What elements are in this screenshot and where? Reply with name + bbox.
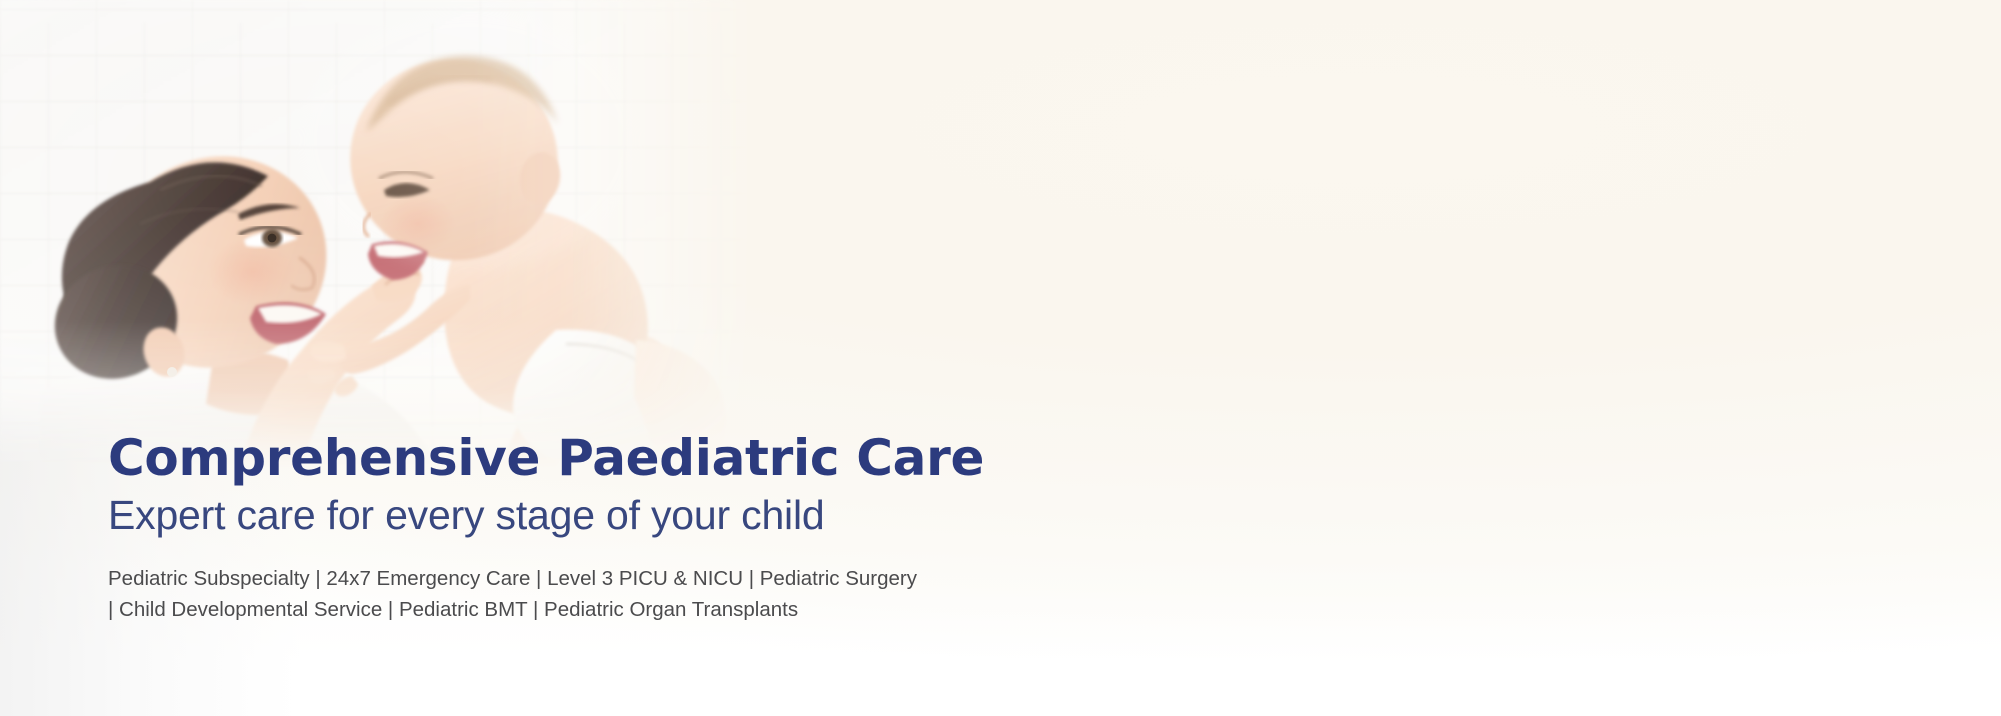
- services-description-line-1: Pediatric Subspecialty | 24x7 Emergency …: [108, 563, 988, 594]
- hero-photo-mother-and-baby: [0, 0, 760, 470]
- page-subtitle: Expert care for every stage of your chil…: [108, 493, 1108, 539]
- paediatric-care-hero-banner: Comprehensive Paediatric Care Expert car…: [0, 0, 2001, 716]
- page-title: Comprehensive Paediatric Care: [108, 432, 1108, 485]
- photo-white-haze-overlay: [0, 0, 760, 470]
- services-description: Pediatric Subspecialty | 24x7 Emergency …: [108, 563, 988, 625]
- banner-text-block: Comprehensive Paediatric Care Expert car…: [108, 432, 1108, 625]
- services-description-line-2: | Child Developmental Service | Pediatri…: [108, 594, 988, 625]
